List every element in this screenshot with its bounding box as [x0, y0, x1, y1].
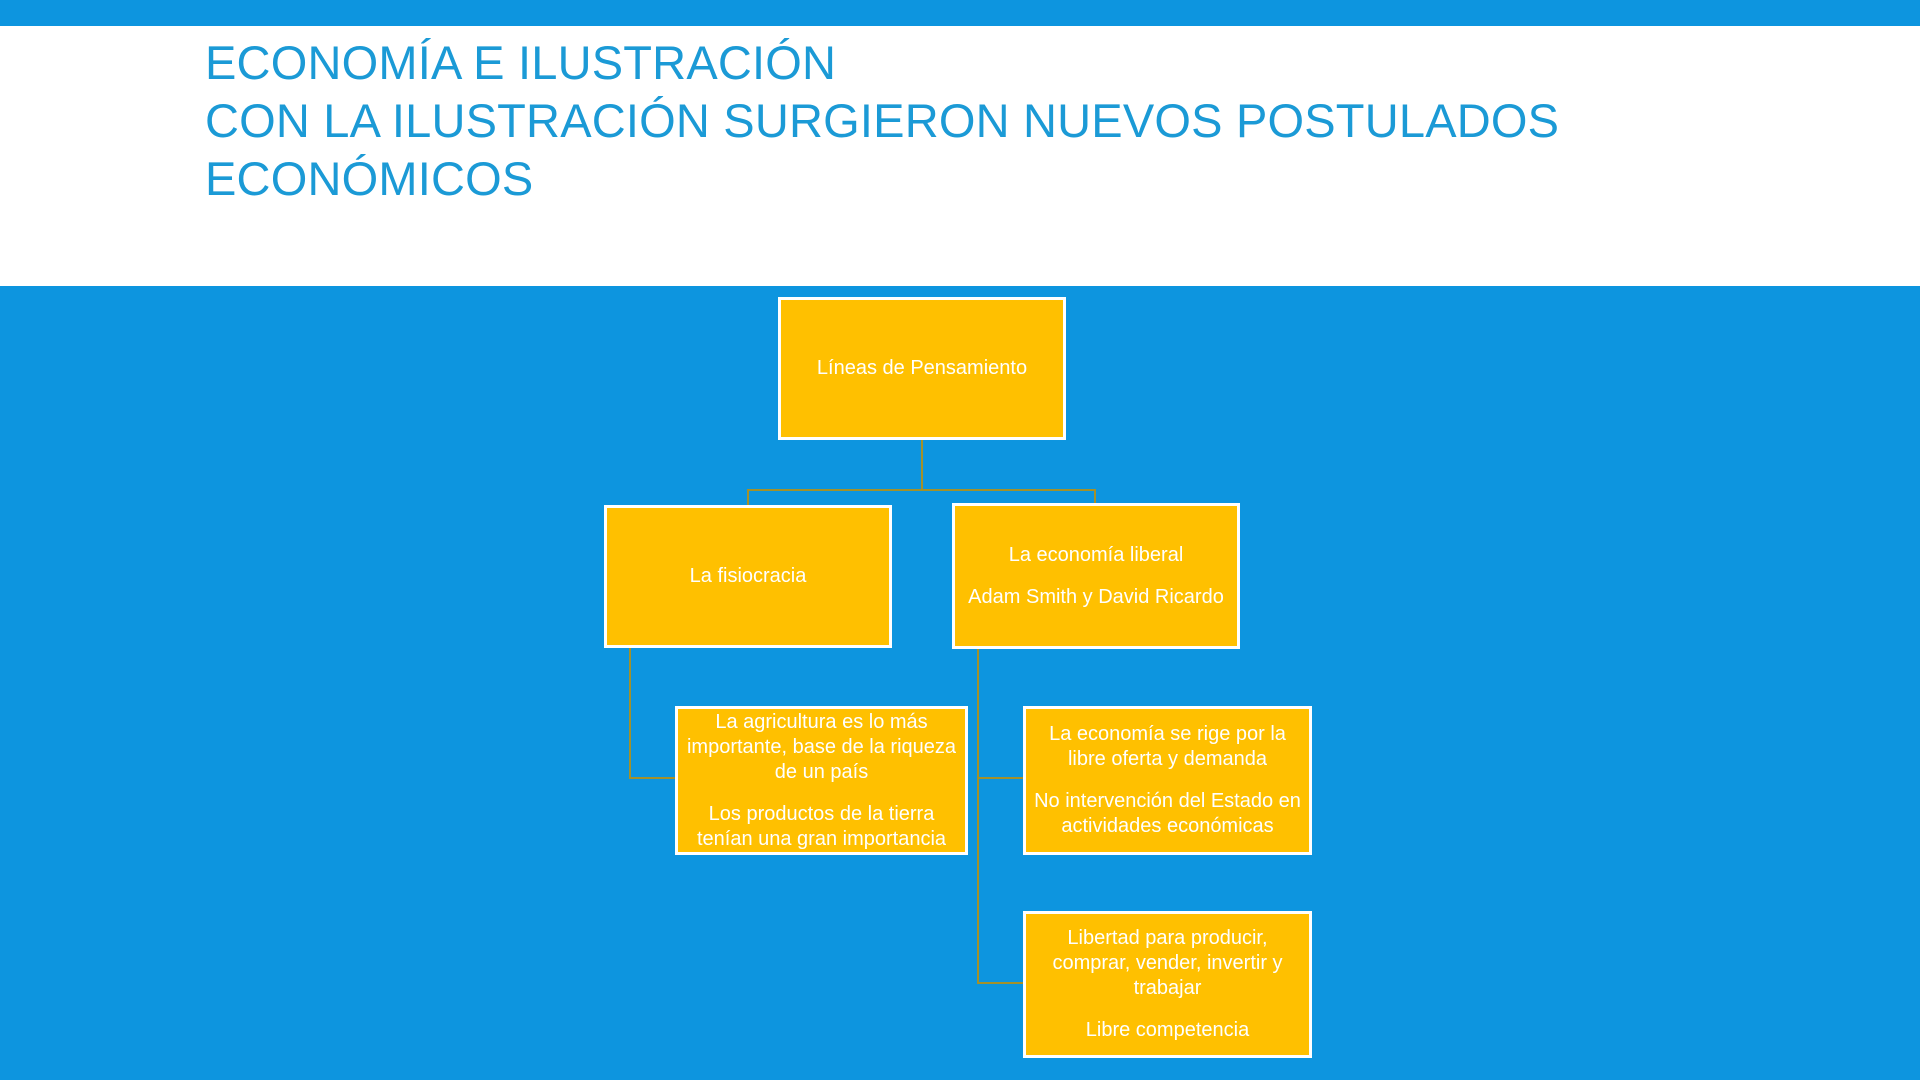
node-la-fisiocracia[interactable]: La fisiocracia: [604, 505, 892, 648]
connector-liberal-to-libertad: [977, 982, 1025, 984]
slide: ECONOMÍA E ILUSTRACIÓN CON LA ILUSTRACIÓ…: [0, 0, 1920, 1080]
connector-fisiocracia-stem: [629, 647, 631, 778]
node-liberal-line-1: La economía liberal: [961, 543, 1231, 568]
connector-fisiocracia-to-agricultura: [629, 777, 677, 779]
node-liberal-line-2: Adam Smith y David Ricardo: [961, 585, 1231, 610]
node-la-economia-liberal[interactable]: La economía liberal Adam Smith y David R…: [952, 503, 1240, 649]
node-oferta-demanda[interactable]: La economía se rige por la libre oferta …: [1023, 706, 1312, 855]
slide-header: ECONOMÍA E ILUSTRACIÓN CON LA ILUSTRACIÓ…: [0, 26, 1920, 286]
node-agricultura-line-2: Los productos de la tierra tenían una gr…: [684, 802, 959, 852]
node-agricultura[interactable]: La agricultura es lo más importante, bas…: [675, 706, 968, 855]
title-line-1: ECONOMÍA E ILUSTRACIÓN: [205, 34, 1845, 92]
top-accent-bar: [0, 0, 1920, 26]
connector-level1-bus: [747, 489, 1095, 491]
title-line-3: ECONÓMICOS: [205, 150, 1845, 208]
node-agricultura-line-1: La agricultura es lo más importante, bas…: [684, 710, 959, 785]
node-lineas-de-pensamiento[interactable]: Líneas de Pensamiento: [778, 297, 1066, 440]
title-line-2: CON LA ILUSTRACIÓN SURGIERON NUEVOS POST…: [205, 92, 1845, 150]
connector-root-stem: [921, 440, 923, 490]
connector-liberal-spine: [977, 648, 979, 984]
node-root-line-1: Líneas de Pensamiento: [787, 356, 1057, 381]
node-libertad[interactable]: Libertad para producir, comprar, vender,…: [1023, 911, 1312, 1058]
node-libertad-line-1: Libertad para producir, comprar, vender,…: [1032, 926, 1303, 1001]
node-oferta-line-1: La economía se rige por la libre oferta …: [1032, 722, 1303, 772]
page-title: ECONOMÍA E ILUSTRACIÓN CON LA ILUSTRACIÓ…: [205, 34, 1845, 208]
node-libertad-line-2: Libre competencia: [1032, 1018, 1303, 1043]
connector-liberal-to-oferta: [977, 777, 1025, 779]
node-fisiocracia-line-1: La fisiocracia: [613, 564, 883, 589]
org-chart-canvas: Líneas de Pensamiento La fisiocracia La …: [0, 286, 1920, 1080]
node-oferta-line-2: No intervención del Estado en actividade…: [1032, 789, 1303, 839]
